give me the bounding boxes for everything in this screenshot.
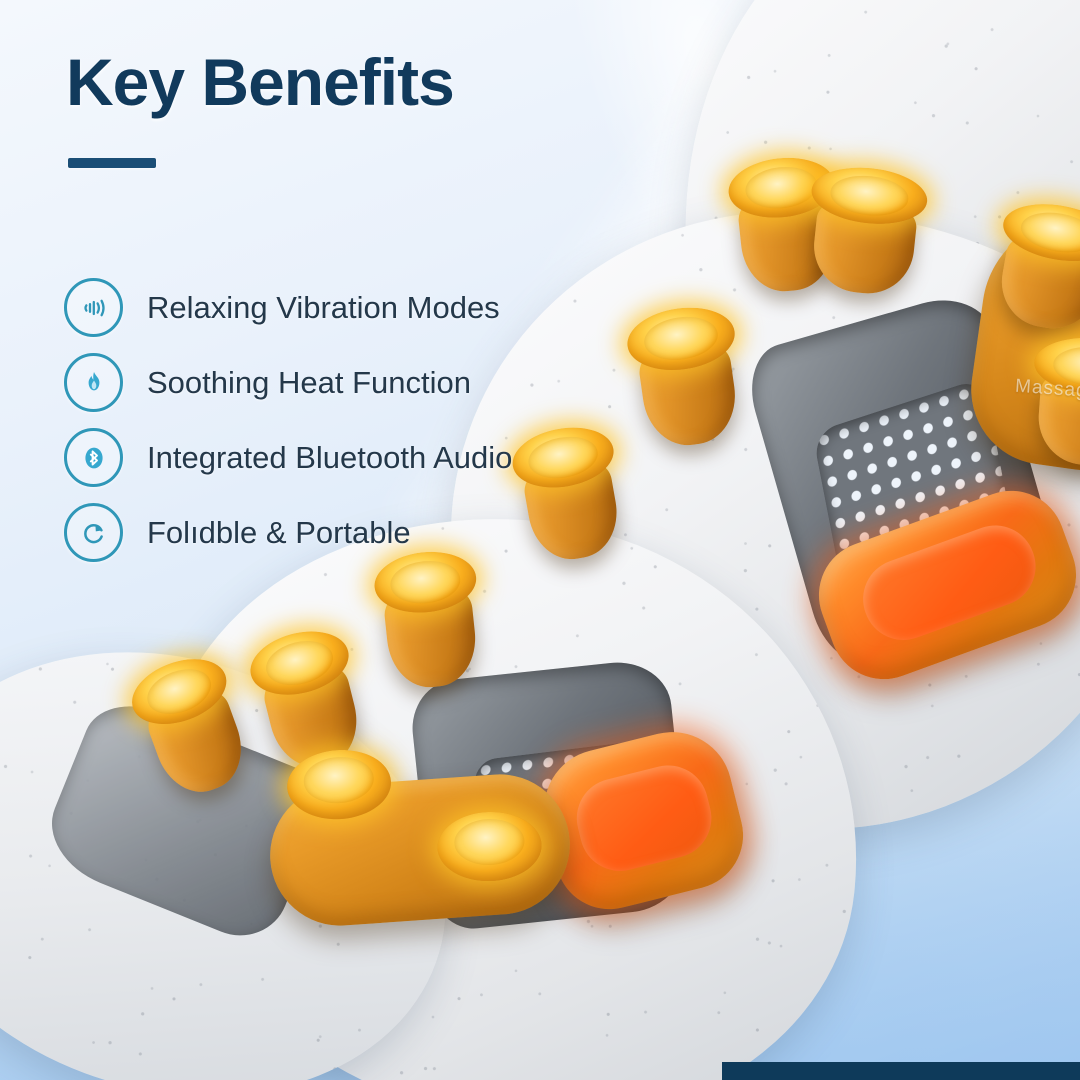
vibration-wave-icon [64, 278, 123, 337]
page-title: Key Benefits [66, 44, 454, 120]
feature-item-heat[interactable]: Soothing Heat Function [64, 345, 512, 420]
feature-label: Folıdble & Portable [147, 515, 411, 551]
feature-item-vibration[interactable]: Relaxing Vibration Modes [64, 270, 512, 345]
feature-label: Relaxing Vibration Modes [147, 290, 500, 326]
bottom-corner-accent-bar [722, 1062, 1080, 1080]
feature-list: Relaxing Vibration Modes Soothing Heat F… [64, 270, 512, 570]
feature-label: Soothing Heat Function [147, 365, 471, 401]
feature-label: Integrated Bluetooth Audio [147, 440, 512, 476]
text-overlay: Key Benefits Relaxing Vibration [0, 0, 1080, 1080]
flame-icon [64, 353, 123, 412]
feature-item-bluetooth[interactable]: Integrated Bluetooth Audio [64, 420, 512, 495]
bluetooth-icon [64, 428, 123, 487]
refresh-rotate-icon [64, 503, 123, 562]
feature-item-foldable[interactable]: Folıdble & Portable [64, 495, 512, 570]
promo-banner: Massage ball Key Benefits [0, 0, 1080, 1080]
title-accent-bar [68, 158, 156, 168]
